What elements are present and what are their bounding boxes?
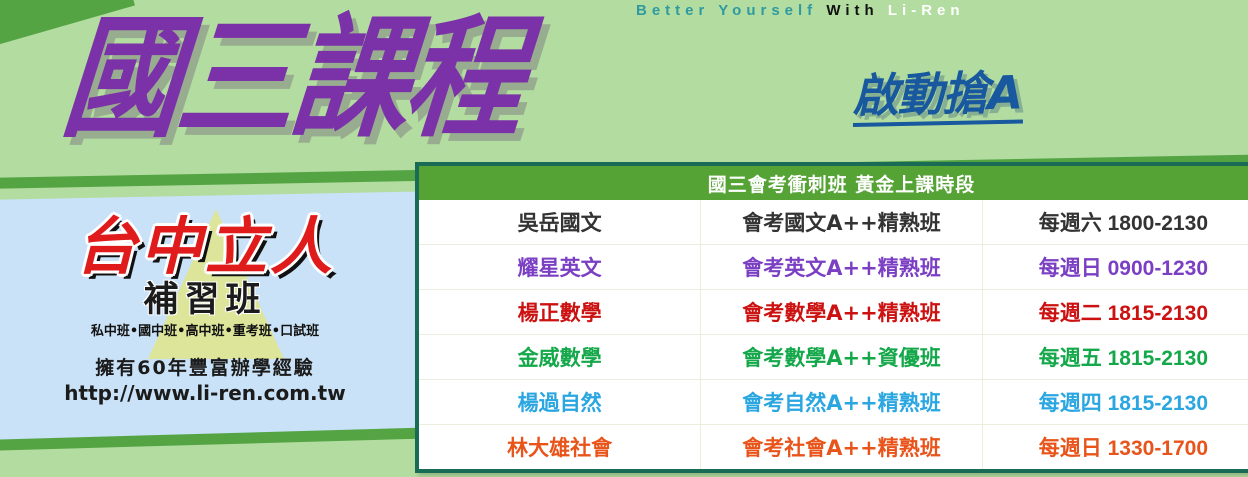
schedule-time-cell: 每週二 1815-2130 <box>982 290 1248 335</box>
schedule-course-cell: 會考自然A++精熟班 <box>701 380 983 425</box>
schedule-time-cell: 每週日 1330-1700 <box>982 425 1248 470</box>
logo-school-name: 台中立人 <box>40 215 370 279</box>
school-logo: 台中立人 補習班 私中班•國中班•高中班•重考班•口試班 擁有60年豐富辦學經驗… <box>40 215 370 405</box>
tagline: Better Yourself With Li-Ren <box>636 2 965 19</box>
logo-class-list: 私中班•國中班•高中班•重考班•口試班 <box>40 320 370 339</box>
schedule-time-cell: 每週五 1815-2130 <box>982 335 1248 380</box>
schedule-table-body: 吳岳國文會考國文A++精熟班每週六 1800-2130耀星英文會考英文A++精熟… <box>419 200 1248 469</box>
schedule-course-cell: 會考數學A++精熟班 <box>701 290 983 335</box>
tagline-word-with: With <box>826 2 878 19</box>
table-row: 吳岳國文會考國文A++精熟班每週六 1800-2130 <box>419 200 1248 245</box>
logo-experience-text: 擁有60年豐富辦學經驗 <box>40 353 370 380</box>
table-row: 林大雄社會會考社會A++精熟班每週日 1330-1700 <box>419 425 1248 470</box>
table-row: 耀星英文會考英文A++精熟班每週日 0900-1230 <box>419 245 1248 290</box>
table-row: 楊正數學會考數學A++精熟班每週二 1815-2130 <box>419 290 1248 335</box>
schedule-header-row: 國三會考衝刺班 黃金上課時段 <box>419 166 1248 200</box>
schedule-course-cell: 會考英文A++精熟班 <box>701 245 983 290</box>
table-row: 金威數學會考數學A++資優班每週五 1815-2130 <box>419 335 1248 380</box>
schedule-time-cell: 每週日 0900-1230 <box>982 245 1248 290</box>
schedule-table: 國三會考衝刺班 黃金上課時段 吳岳國文會考國文A++精熟班每週六 1800-21… <box>419 166 1248 469</box>
schedule-course-cell: 會考數學A++資優班 <box>701 335 983 380</box>
logo-school-type: 補習班 <box>40 281 370 319</box>
promo-banner: Better Yourself With Li-Ren 國三課程 啟動搶A 台中… <box>0 0 1248 477</box>
schedule-time-cell: 每週六 1800-2130 <box>982 200 1248 245</box>
logo-website-url[interactable]: http://www.li-ren.com.tw <box>40 381 370 405</box>
schedule-teacher-cell: 林大雄社會 <box>419 425 701 470</box>
table-row: 楊過自然會考自然A++精熟班每週四 1815-2130 <box>419 380 1248 425</box>
tagline-word-better: Better <box>636 2 709 19</box>
schedule-teacher-cell: 金威數學 <box>419 335 701 380</box>
schedule-teacher-cell: 吳岳國文 <box>419 200 701 245</box>
schedule-course-cell: 會考社會A++精熟班 <box>701 425 983 470</box>
schedule-teacher-cell: 楊正數學 <box>419 290 701 335</box>
schedule-teacher-cell: 耀星英文 <box>419 245 701 290</box>
schedule-header-title: 國三會考衝刺班 黃金上課時段 <box>419 166 1248 200</box>
sub-headline: 啟動搶A <box>852 68 1023 127</box>
schedule-table-container: 國三會考衝刺班 黃金上課時段 吳岳國文會考國文A++精熟班每週六 1800-21… <box>415 162 1248 473</box>
schedule-time-cell: 每週四 1815-2130 <box>982 380 1248 425</box>
tagline-word-liren: Li-Ren <box>888 2 965 19</box>
schedule-teacher-cell: 楊過自然 <box>419 380 701 425</box>
schedule-course-cell: 會考國文A++精熟班 <box>701 200 983 245</box>
tagline-word-yourself: Yourself <box>718 2 817 19</box>
schedule-table-head: 國三會考衝刺班 黃金上課時段 <box>419 166 1248 200</box>
main-headline: 國三課程 <box>58 12 526 144</box>
